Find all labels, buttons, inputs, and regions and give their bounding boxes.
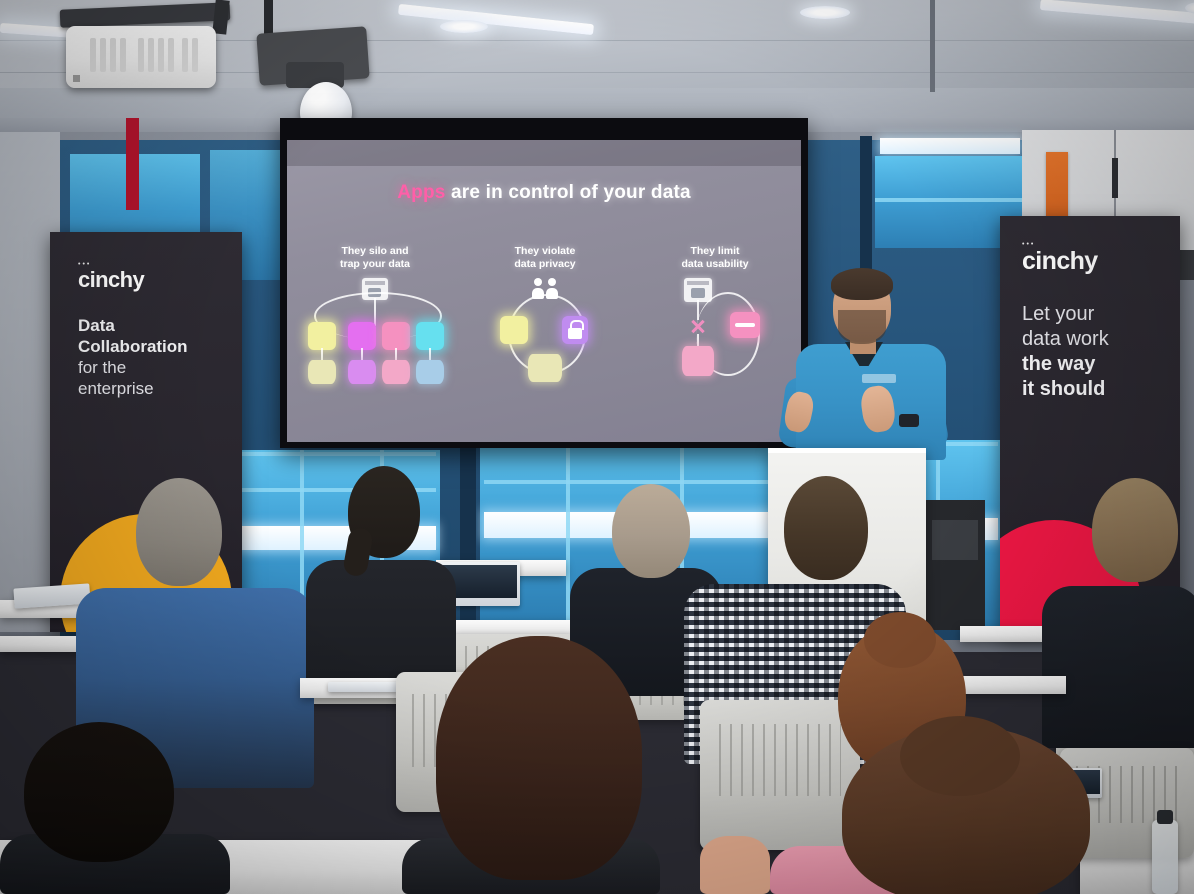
app-window-icon [684,278,712,302]
slide-column-privacy: They violate data privacy [470,245,620,384]
presenter-wristwatch [899,414,919,427]
app-node [382,322,410,350]
red-wall-stripe [126,118,139,210]
slide-title: Apps are in control of your data [287,182,801,204]
presenter-beard [838,310,886,344]
attendee-hand [700,836,770,894]
app-node [308,322,336,350]
slide-column-silo: They silo and trap your data [300,245,450,384]
banner-left-logo: cinchy [78,267,242,293]
database-cylinder [416,360,444,384]
podium-top-edge [768,448,926,453]
ceiling-projector [66,26,216,88]
banner-left-logo-dots: ••• [78,262,242,267]
banner-left-subline-1: for the [78,357,242,378]
slide-title-highlight: Apps [397,182,445,203]
database-cylinder [382,360,410,384]
banner-right-line-1: Let your [1022,302,1180,327]
slide-title-rest: are in control of your data [446,182,691,203]
ceiling-support-pole [930,0,935,92]
app-node [348,322,376,350]
banner-left: ••• cinchy Data Collaboration for the en… [50,232,242,632]
x-block-icon [690,318,706,334]
column-heading: They violate data privacy [470,245,620,271]
wall-fixture [1112,158,1118,198]
database-cylinder [348,360,376,384]
wall-poster [1046,152,1068,224]
av-equipment-panel [932,520,978,560]
banner-right-logo-dots: ••• [1022,242,1180,247]
presenter-shirt-logo [862,374,896,383]
hair-bun [900,716,1020,796]
column-heading: They limit data usability [640,245,790,271]
chair [700,700,860,850]
ceiling-round-light [800,6,850,19]
database-cylinder [308,360,336,384]
presentation-room-photo: Apps are in control of your data They si… [0,0,1194,894]
banner-left-headline-1: Data [78,315,242,336]
database-cylinder [528,354,562,382]
screen-top-shadow [287,140,801,166]
ceiling-round-light [440,20,488,33]
diagram-silo [300,278,450,384]
banner-right-logo: cinchy [1022,247,1180,276]
diagram-usability [660,278,770,384]
banner-right-line-4: it should [1022,377,1180,402]
column-heading: They silo and trap your data [300,245,450,271]
lock-node [562,316,588,344]
water-bottle-cap [1157,810,1173,824]
diagram-privacy [490,278,600,384]
app-node [500,316,528,344]
presenter-hair [831,268,893,300]
banner-left-subline-2: enterprise [78,378,242,399]
slide-column-usability: They limit data usability [640,245,790,384]
app-node [730,312,760,338]
water-bottle [1152,820,1178,894]
banner-left-headline-2: Collaboration [78,336,242,357]
laptop [328,682,398,692]
app-node [416,322,444,350]
slide-columns: They silo and trap your data [300,245,790,405]
banner-right-line-2: data work [1022,327,1180,352]
database-cylinder [682,346,714,376]
banner-right-line-3: the way [1022,352,1180,377]
hair-bun [864,612,936,668]
